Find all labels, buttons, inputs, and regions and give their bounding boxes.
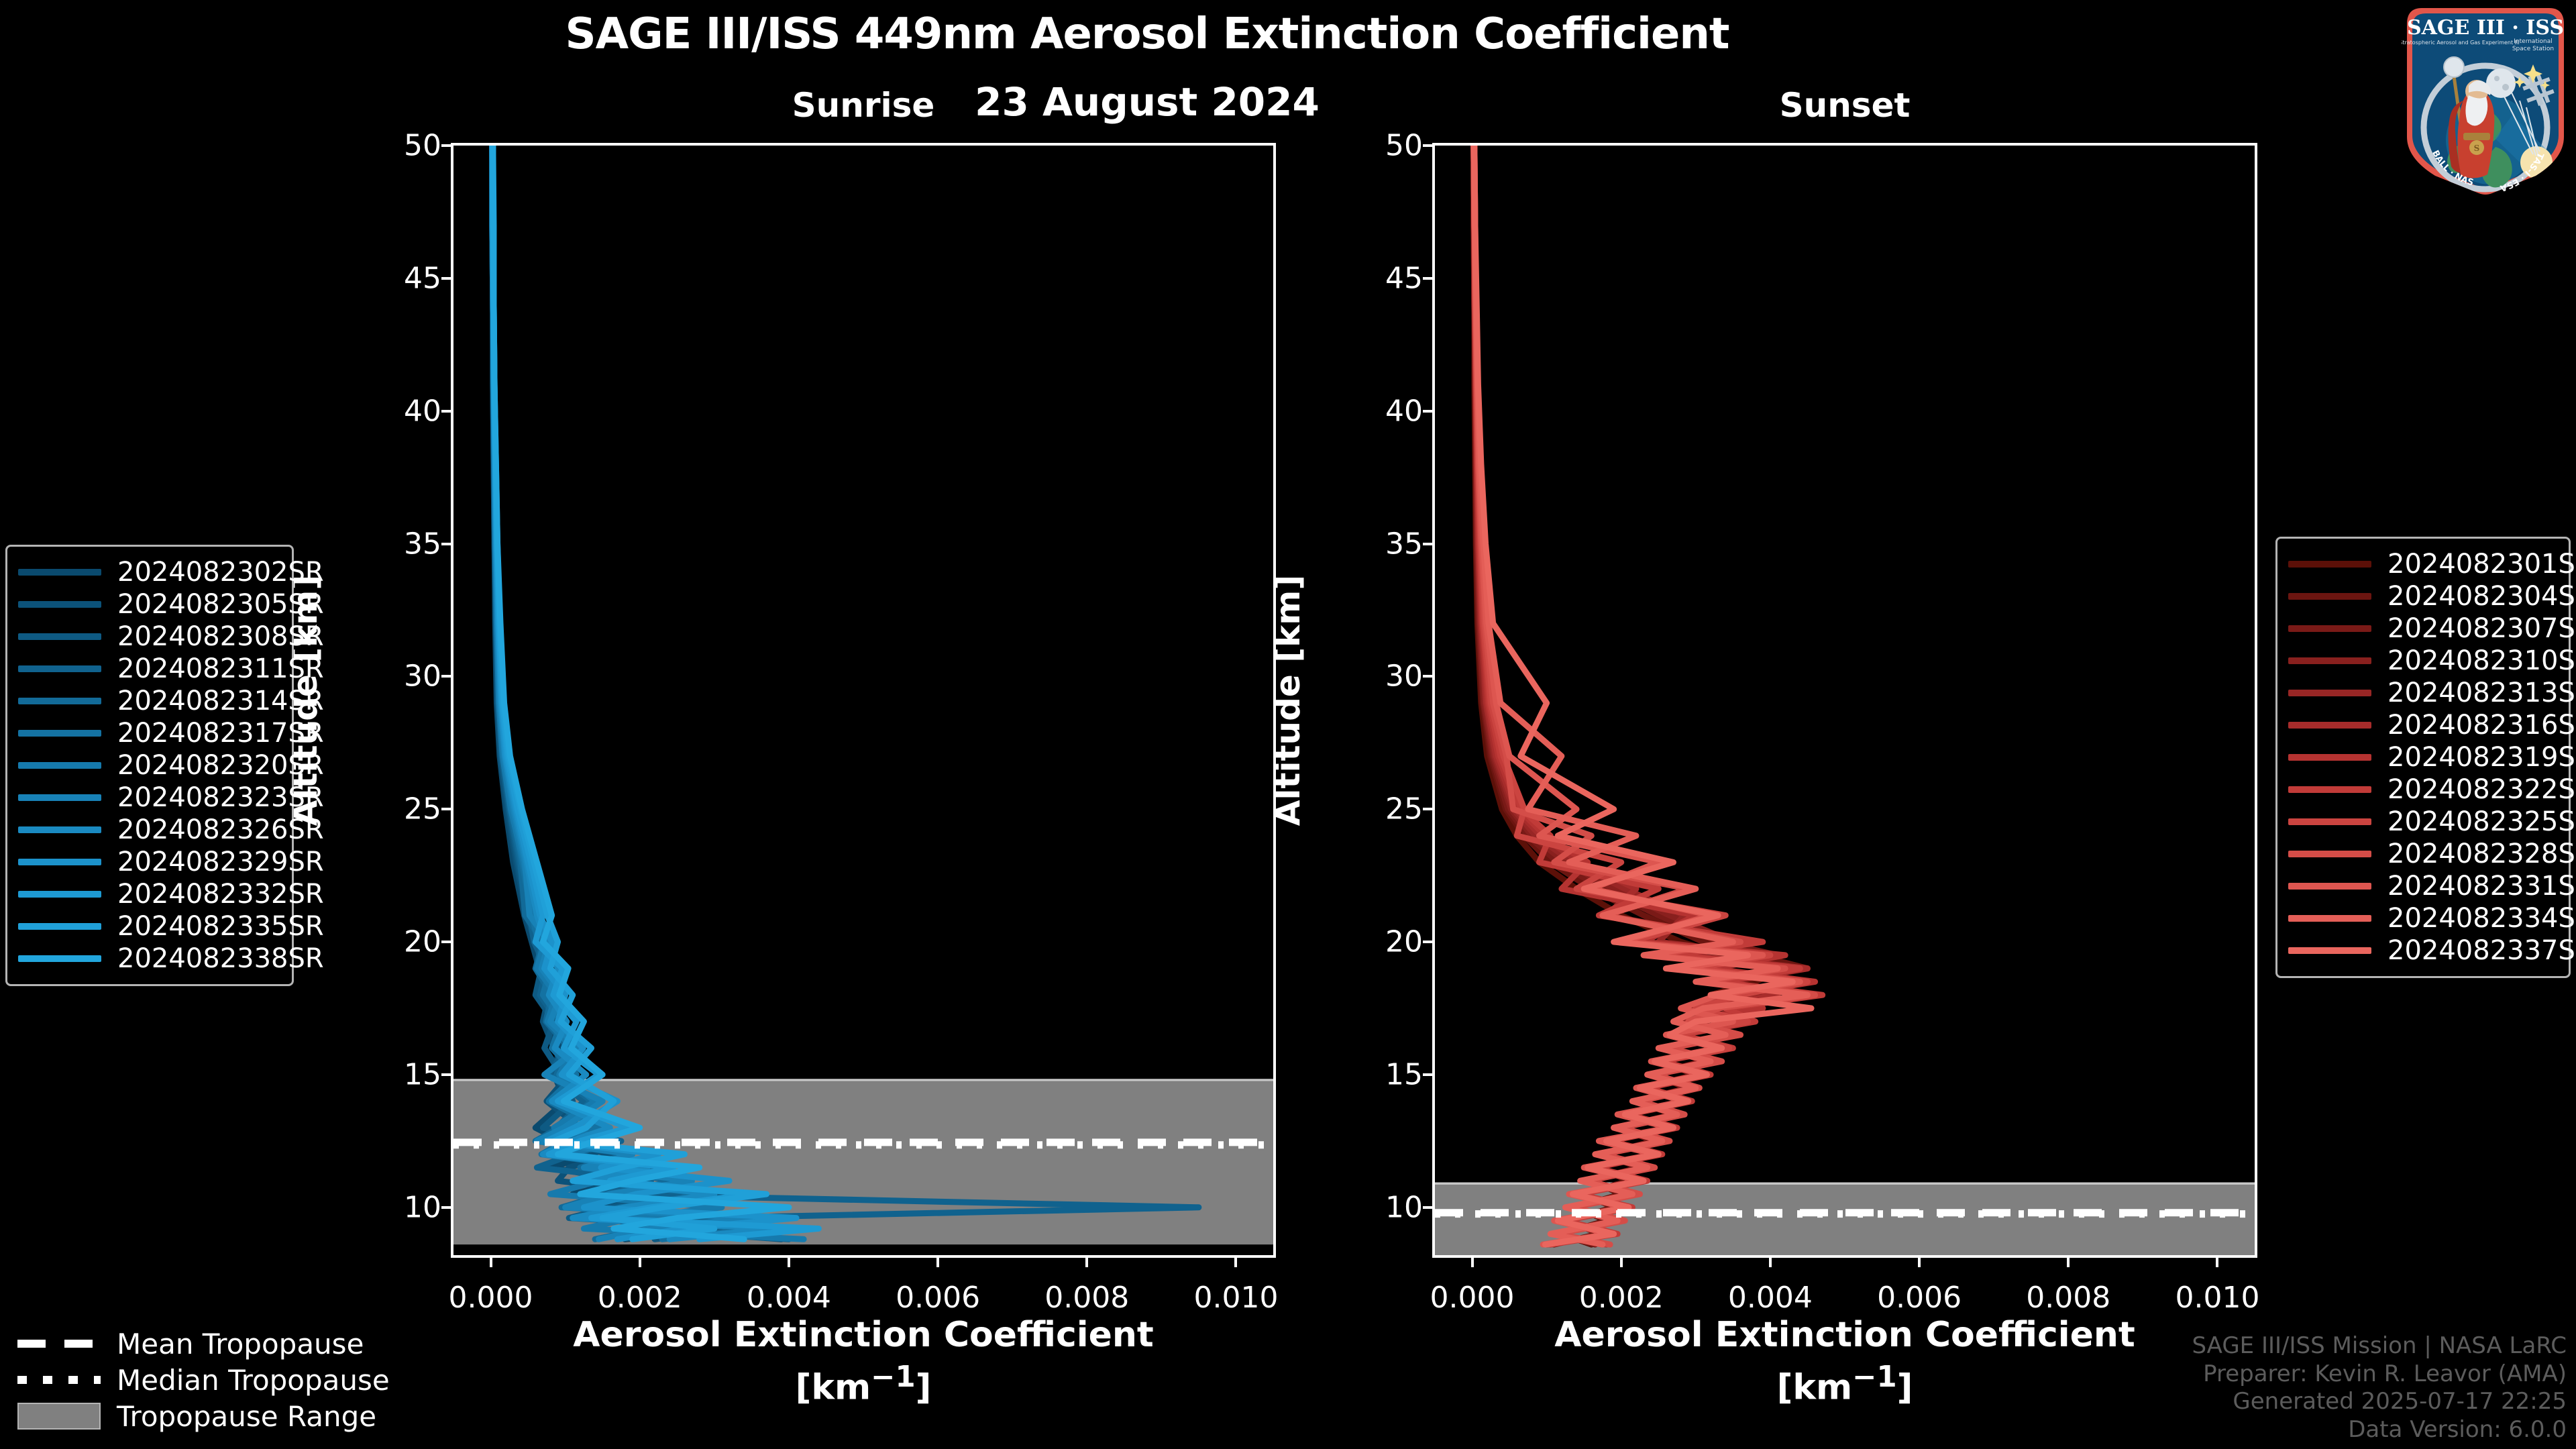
sunset-y-tick-label: 10 [1385,1190,1423,1224]
tropopause-legend-item[interactable]: Mean Tropopause [17,1326,372,1362]
sunrise-x-tick-mark [936,1255,939,1267]
logo-subtitle-right-1: International [2514,38,2552,45]
sunset-legend: 2024082301SS2024082304SS2024082307SS2024… [2275,537,2571,978]
sunrise-plot-area [453,146,1273,1255]
sunset-y-tick-label: 50 [1385,129,1423,163]
sunset-y-axis-label: Altitude [km] [1269,575,1307,826]
sunrise-legend-swatch [18,730,101,737]
sunset-y-tick-label: 20 [1385,925,1423,959]
sunrise-x-tick-mark [490,1255,492,1267]
sunset-y-tick-mark [1423,941,1435,943]
sunrise-x-tick-label: 0.006 [896,1281,980,1315]
credits-mission: SAGE III/ISS Mission | NASA LaRC [2192,1332,2567,1360]
sunset-x-tick-label: 0.000 [1430,1281,1515,1315]
sunrise-y-tick-label: 25 [404,792,441,826]
sunset-legend-item[interactable]: 2024082325SS [2288,806,2558,838]
sunrise-legend-swatch [18,955,101,962]
sunset-legend-label: 2024082301SS [2387,549,2576,580]
sunset-legend-label: 2024082316SS [2387,710,2576,741]
sunrise-legend-label: 2024082308SR [117,621,324,652]
sunset-legend-swatch [2288,851,2371,857]
logo-title: SAGE III · ISS [2407,16,2564,40]
sunrise-legend-swatch [18,762,101,769]
extinction-profile-line [493,146,796,1239]
sunrise-legend-swatch [18,601,101,608]
sunset-x-tick-label: 0.008 [2026,1281,2110,1315]
sunrise-x-tick-mark [1085,1255,1088,1267]
sunset-legend-item[interactable]: 2024082337SS [2288,934,2558,967]
sunset-legend-label: 2024082304SS [2387,581,2576,612]
sunrise-legend-item[interactable]: 2024082302SR [18,556,281,588]
sunrise-y-tick-mark [441,1073,453,1076]
sunset-x-tick-mark [1620,1255,1623,1267]
sunrise-legend-item[interactable]: 2024082335SR [18,910,281,943]
sunrise-legend-swatch [18,923,101,930]
sunset-legend-label: 2024082307SS [2387,613,2576,644]
extinction-profile-line [1474,146,1808,1244]
extinction-profile-line [1474,146,1808,1244]
sunrise-legend-swatch [18,633,101,640]
sunrise-legend-label: 2024082323SR [117,782,324,813]
sunset-legend-swatch [2288,722,2371,729]
sunrise-legend-swatch [18,794,101,801]
sunset-legend-item[interactable]: 2024082322SS [2288,773,2558,806]
sunset-x-axis-label-units: [km−1] [1432,1360,2257,1407]
sunset-legend-item[interactable]: 2024082328SS [2288,838,2558,870]
tropopause-legend-swatch-dotted [17,1376,101,1384]
sunrise-x-axis-label: Aerosol Extinction Coefficient [km−1] [451,1315,1276,1407]
sunset-legend-swatch [2288,818,2371,825]
svg-text:S: S [2474,144,2480,153]
extinction-profile-line [492,146,819,1239]
sunset-legend-label: 2024082319SS [2387,742,2576,773]
sunset-y-tick-mark [1423,675,1435,678]
extinction-profile-line [492,146,744,1239]
extinction-profile-line [1474,146,1815,1244]
sunrise-x-tick-label: 0.002 [598,1281,682,1315]
extinction-profile-line [493,146,789,1239]
sunset-legend-item[interactable]: 2024082313SS [2288,677,2558,709]
sunrise-legend: 2024082302SR2024082305SR2024082308SR2024… [5,545,294,986]
sunset-plot-area [1435,146,2255,1255]
sunset-y-tick-mark [1423,410,1435,413]
extinction-profile-line [1474,146,1785,1244]
sunset-legend-label: 2024082337SS [2387,935,2576,966]
sunrise-y-tick-mark [441,543,453,545]
sunset-legend-swatch [2288,786,2371,793]
extinction-profile-line [493,146,737,1239]
sunrise-legend-label: 2024082335SR [117,911,324,942]
sunrise-legend-label: 2024082326SR [117,814,324,845]
sunset-y-tick-label: 25 [1385,792,1423,826]
tropopause-legend-label: Tropopause Range [117,1400,376,1433]
sunrise-y-tick-mark [441,941,453,943]
credits-generated: Generated 2025-07-17 22:25 [2192,1388,2567,1415]
sunrise-legend-swatch [18,859,101,865]
sunset-y-tick-mark [1423,808,1435,810]
sunset-legend-item[interactable]: 2024082301SS [2288,548,2558,580]
extinction-profile-line [492,146,774,1239]
sunrise-y-tick-mark [441,1206,453,1209]
sunrise-legend-label: 2024082338SR [117,943,324,974]
sunrise-x-tick-label: 0.004 [747,1281,831,1315]
logo-subtitle-right-2: Space Station [2512,46,2554,52]
sunset-legend-label: 2024082313SS [2387,678,2576,708]
tropopause-legend-label: Mean Tropopause [117,1328,364,1360]
extinction-profile-line [492,146,729,1239]
sunrise-legend-item[interactable]: 2024082314SR [18,685,281,717]
sunrise-legend-item[interactable]: 2024082332SR [18,878,281,910]
sunrise-y-tick-mark [441,277,453,280]
tropopause-legend-item[interactable]: Median Tropopause [17,1362,372,1398]
tropopause-legend-swatch-band [17,1403,101,1430]
sage-iii-iss-mission-patch-logo: S SAGE III · ISS Stratospheric Aerosol a… [2402,3,2569,197]
sunrise-legend-label: 2024082320SR [117,750,324,781]
credits-data-version: Data Version: 6.0.0 [2192,1416,2567,1444]
sunrise-curves [453,146,1273,1255]
sunset-x-tick-mark [1769,1255,1772,1267]
tropopause-legend-swatch-dashed [17,1340,101,1348]
sunrise-x-tick-label: 0.000 [449,1281,533,1315]
credits-preparer: Preparer: Kevin R. Leavor (AMA) [2192,1360,2567,1388]
sunset-x-axis-label: Aerosol Extinction Coefficient [km−1] [1432,1315,2257,1407]
sunrise-legend-swatch [18,826,101,833]
sunset-x-tick-label: 0.010 [2175,1281,2259,1315]
sunrise-x-tick-mark [788,1255,790,1267]
sunset-legend-label: 2024082322SS [2387,774,2576,805]
extinction-profile-line [1474,146,1785,1244]
sunrise-legend-label: 2024082317SR [117,718,324,749]
sunrise-legend-item[interactable]: 2024082323SR [18,782,281,814]
sunrise-y-tick-label: 15 [404,1057,441,1091]
sunset-y-tick-label: 30 [1385,659,1423,694]
sunrise-legend-item[interactable]: 2024082326SR [18,814,281,846]
sunrise-legend-label: 2024082314SR [117,686,324,716]
sunrise-x-tick-mark [639,1255,641,1267]
sunset-x-tick-label: 0.002 [1579,1281,1664,1315]
sunset-legend-label: 2024082334SS [2387,903,2576,934]
sunset-legend-swatch [2288,883,2371,890]
sunset-x-tick-mark [1471,1255,1474,1267]
sunrise-y-tick-label: 30 [404,659,441,694]
sunset-x-tick-mark [2067,1255,2070,1267]
extinction-profile-line [1474,146,1792,1244]
sunset-y-tick-mark [1423,543,1435,545]
extinction-profile-line [493,146,751,1239]
sunrise-legend-swatch [18,698,101,704]
sunrise-y-tick-mark [441,410,453,413]
sunrise-y-tick-mark [441,808,453,810]
sunset-legend-item[interactable]: 2024082319SS [2288,741,2558,773]
extinction-profile-line [492,146,782,1239]
sunset-panel-title: Sunset [1432,86,2257,125]
sunrise-y-tick-label: 20 [404,925,441,959]
tropopause-legend: Mean TropopauseMedian TropopauseTropopau… [7,1316,382,1444]
tropopause-legend-label: Median Tropopause [117,1364,390,1397]
sunrise-plot-axes: 1015202530354045500.0000.0020.0040.0060.… [451,143,1276,1258]
sunrise-legend-label: 2024082329SR [117,847,324,877]
sunset-x-tick-mark [2216,1255,2218,1267]
sunset-curves [1435,146,2255,1255]
extinction-profile-line [1474,146,1800,1244]
sunset-y-tick-label: 35 [1385,527,1423,561]
extinction-profile-line [1474,146,1801,1244]
extinction-profile-line [492,146,804,1239]
sunrise-y-tick-label: 10 [404,1190,441,1224]
sunrise-legend-item[interactable]: 2024082338SR [18,943,281,975]
sunset-y-tick-label: 45 [1385,261,1423,295]
sunrise-legend-label: 2024082311SR [117,653,324,684]
extinction-profile-line [1474,146,1811,1244]
sunrise-y-tick-label: 40 [404,394,441,428]
sunset-legend-item[interactable]: 2024082304SS [2288,580,2558,612]
sunset-legend-swatch [2288,657,2371,664]
sunrise-legend-label: 2024082302SR [117,557,324,588]
sunrise-legend-item[interactable]: 2024082329SR [18,846,281,878]
sunset-y-tick-mark [1423,1073,1435,1076]
sunrise-x-tick-label: 0.008 [1044,1281,1129,1315]
sunset-legend-item[interactable]: 2024082334SS [2288,902,2558,934]
sunrise-legend-swatch [18,665,101,672]
credits-block: SAGE III/ISS Mission | NASA LaRC Prepare… [2192,1332,2567,1444]
sunrise-y-tick-mark [441,675,453,678]
sunrise-x-tick-label: 0.010 [1193,1281,1278,1315]
sunset-x-axis-label-line1: Aerosol Extinction Coefficient [1554,1315,2135,1355]
sunrise-legend-swatch [18,569,101,576]
sunset-y-tick-label: 15 [1385,1057,1423,1091]
sunrise-y-tick-mark [441,144,453,147]
sunrise-x-tick-mark [1234,1255,1237,1267]
extinction-profile-line [1474,146,1808,1244]
extinction-profile-line [1474,146,1815,1244]
extinction-profile-line [492,146,759,1239]
sunset-y-tick-mark [1423,1206,1435,1209]
sunset-legend-swatch [2288,690,2371,696]
sunrise-legend-item[interactable]: 2024082320SR [18,749,281,782]
tropopause-legend-item[interactable]: Tropopause Range [17,1398,372,1434]
sunset-legend-label: 2024082331SS [2387,871,2576,902]
sunset-plot-axes: 1015202530354045500.0000.0020.0040.0060.… [1432,143,2257,1258]
sunset-legend-item[interactable]: 2024082307SS [2288,612,2558,645]
page-title: SAGE III/ISS 449nm Aerosol Extinction Co… [0,9,2294,59]
sunset-legend-swatch [2288,561,2371,568]
extinction-profile-line [1474,146,1808,1244]
sunset-y-tick-mark [1423,144,1435,147]
sunset-legend-item[interactable]: 2024082331SS [2288,870,2558,902]
sunrise-legend-item[interactable]: 2024082311SR [18,653,281,685]
sunset-legend-item[interactable]: 2024082310SS [2288,645,2558,677]
extinction-profile-line [493,146,767,1239]
sunset-legend-item[interactable]: 2024082316SS [2288,709,2558,741]
sunrise-y-tick-label: 50 [404,129,441,163]
sunrise-x-axis-label-line1: Aerosol Extinction Coefficient [573,1315,1154,1355]
sunset-legend-label: 2024082310SS [2387,645,2576,676]
sunrise-legend-label: 2024082332SR [117,879,324,910]
sunrise-legend-item[interactable]: 2024082317SR [18,717,281,749]
sunset-x-tick-label: 0.004 [1728,1281,1813,1315]
sunset-legend-swatch [2288,915,2371,922]
sunset-x-tick-mark [1918,1255,1921,1267]
sunset-legend-label: 2024082328SS [2387,839,2576,869]
sunset-y-tick-mark [1423,277,1435,280]
sunset-legend-swatch [2288,625,2371,632]
sunset-legend-swatch [2288,947,2371,954]
sunrise-legend-label: 2024082305SR [117,589,324,620]
sunrise-legend-swatch [18,891,101,898]
sunrise-legend-item[interactable]: 2024082305SR [18,588,281,621]
sunrise-panel-title: Sunrise [451,86,1276,125]
sunrise-y-tick-label: 35 [404,527,441,561]
extinction-profile-line [1474,146,1823,1244]
sunset-y-tick-label: 40 [1385,394,1423,428]
sunset-legend-label: 2024082325SS [2387,806,2576,837]
logo-subtitle-left: Stratospheric Aerosol and Gas Experiment… [2402,40,2520,46]
sunrise-x-axis-label-units: [km−1] [451,1360,1276,1407]
sunrise-legend-item[interactable]: 2024082308SR [18,621,281,653]
sunset-legend-swatch [2288,754,2371,761]
sunset-legend-swatch [2288,593,2371,600]
sunrise-y-tick-label: 45 [404,261,441,295]
sunset-x-tick-label: 0.006 [1877,1281,1962,1315]
